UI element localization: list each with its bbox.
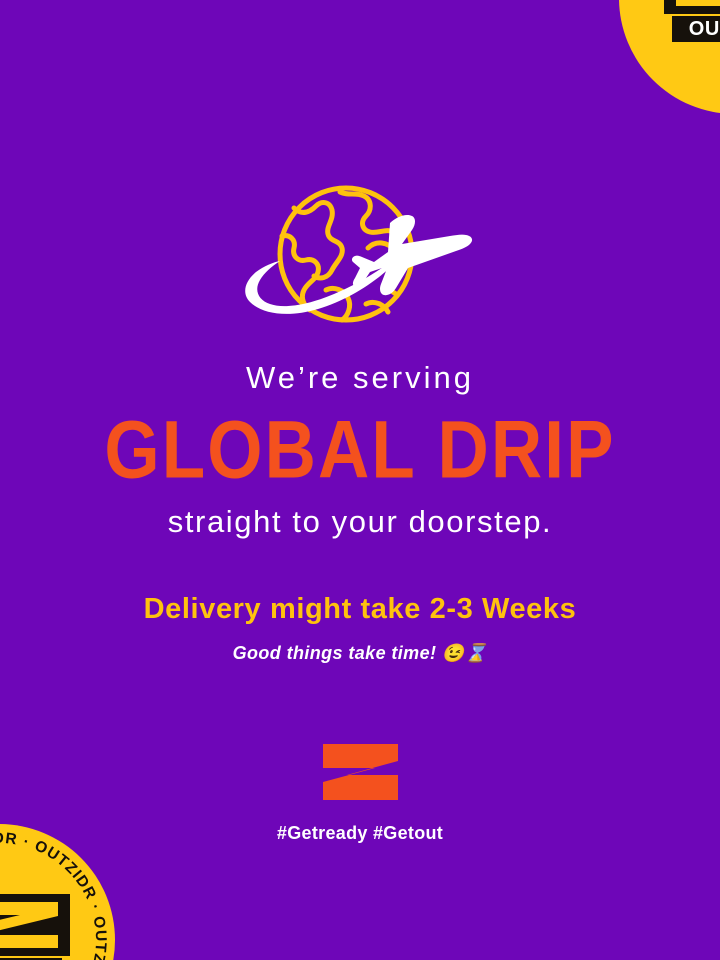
stamp-wordmark-top-right: OUTZIDR bbox=[689, 18, 720, 40]
globe-airplane-illustration bbox=[236, 178, 484, 344]
reassurance-text: Good things take time! 😉⌛ bbox=[0, 644, 720, 662]
stamp-core-top-right: OUTZIDR bbox=[664, 0, 720, 44]
stamp-bottom-left: OUTZIDR · OUTZIDR · OUTZIDR · OUTZIDR · … bbox=[0, 824, 115, 960]
stamp-core-bottom-left: OUTZIDR bbox=[0, 894, 70, 960]
stamp-top-right: OUTZIDR · OUTZIDR · OUTZIDR · OUTZIDR · … bbox=[619, 0, 720, 114]
subline-text: straight to your doorstep. bbox=[0, 506, 720, 537]
delivery-estimate-text: Delivery might take 2-3 Weeks bbox=[0, 595, 720, 624]
eyebrow-text: We’re serving bbox=[0, 362, 720, 393]
copy-block: We’re serving GLOBAL DRIP straight to yo… bbox=[0, 362, 720, 662]
poster-canvas: We’re serving GLOBAL DRIP straight to yo… bbox=[0, 0, 720, 960]
headline-text: GLOBAL DRIP bbox=[0, 409, 720, 491]
outzidr-z-mark-icon bbox=[321, 742, 400, 802]
